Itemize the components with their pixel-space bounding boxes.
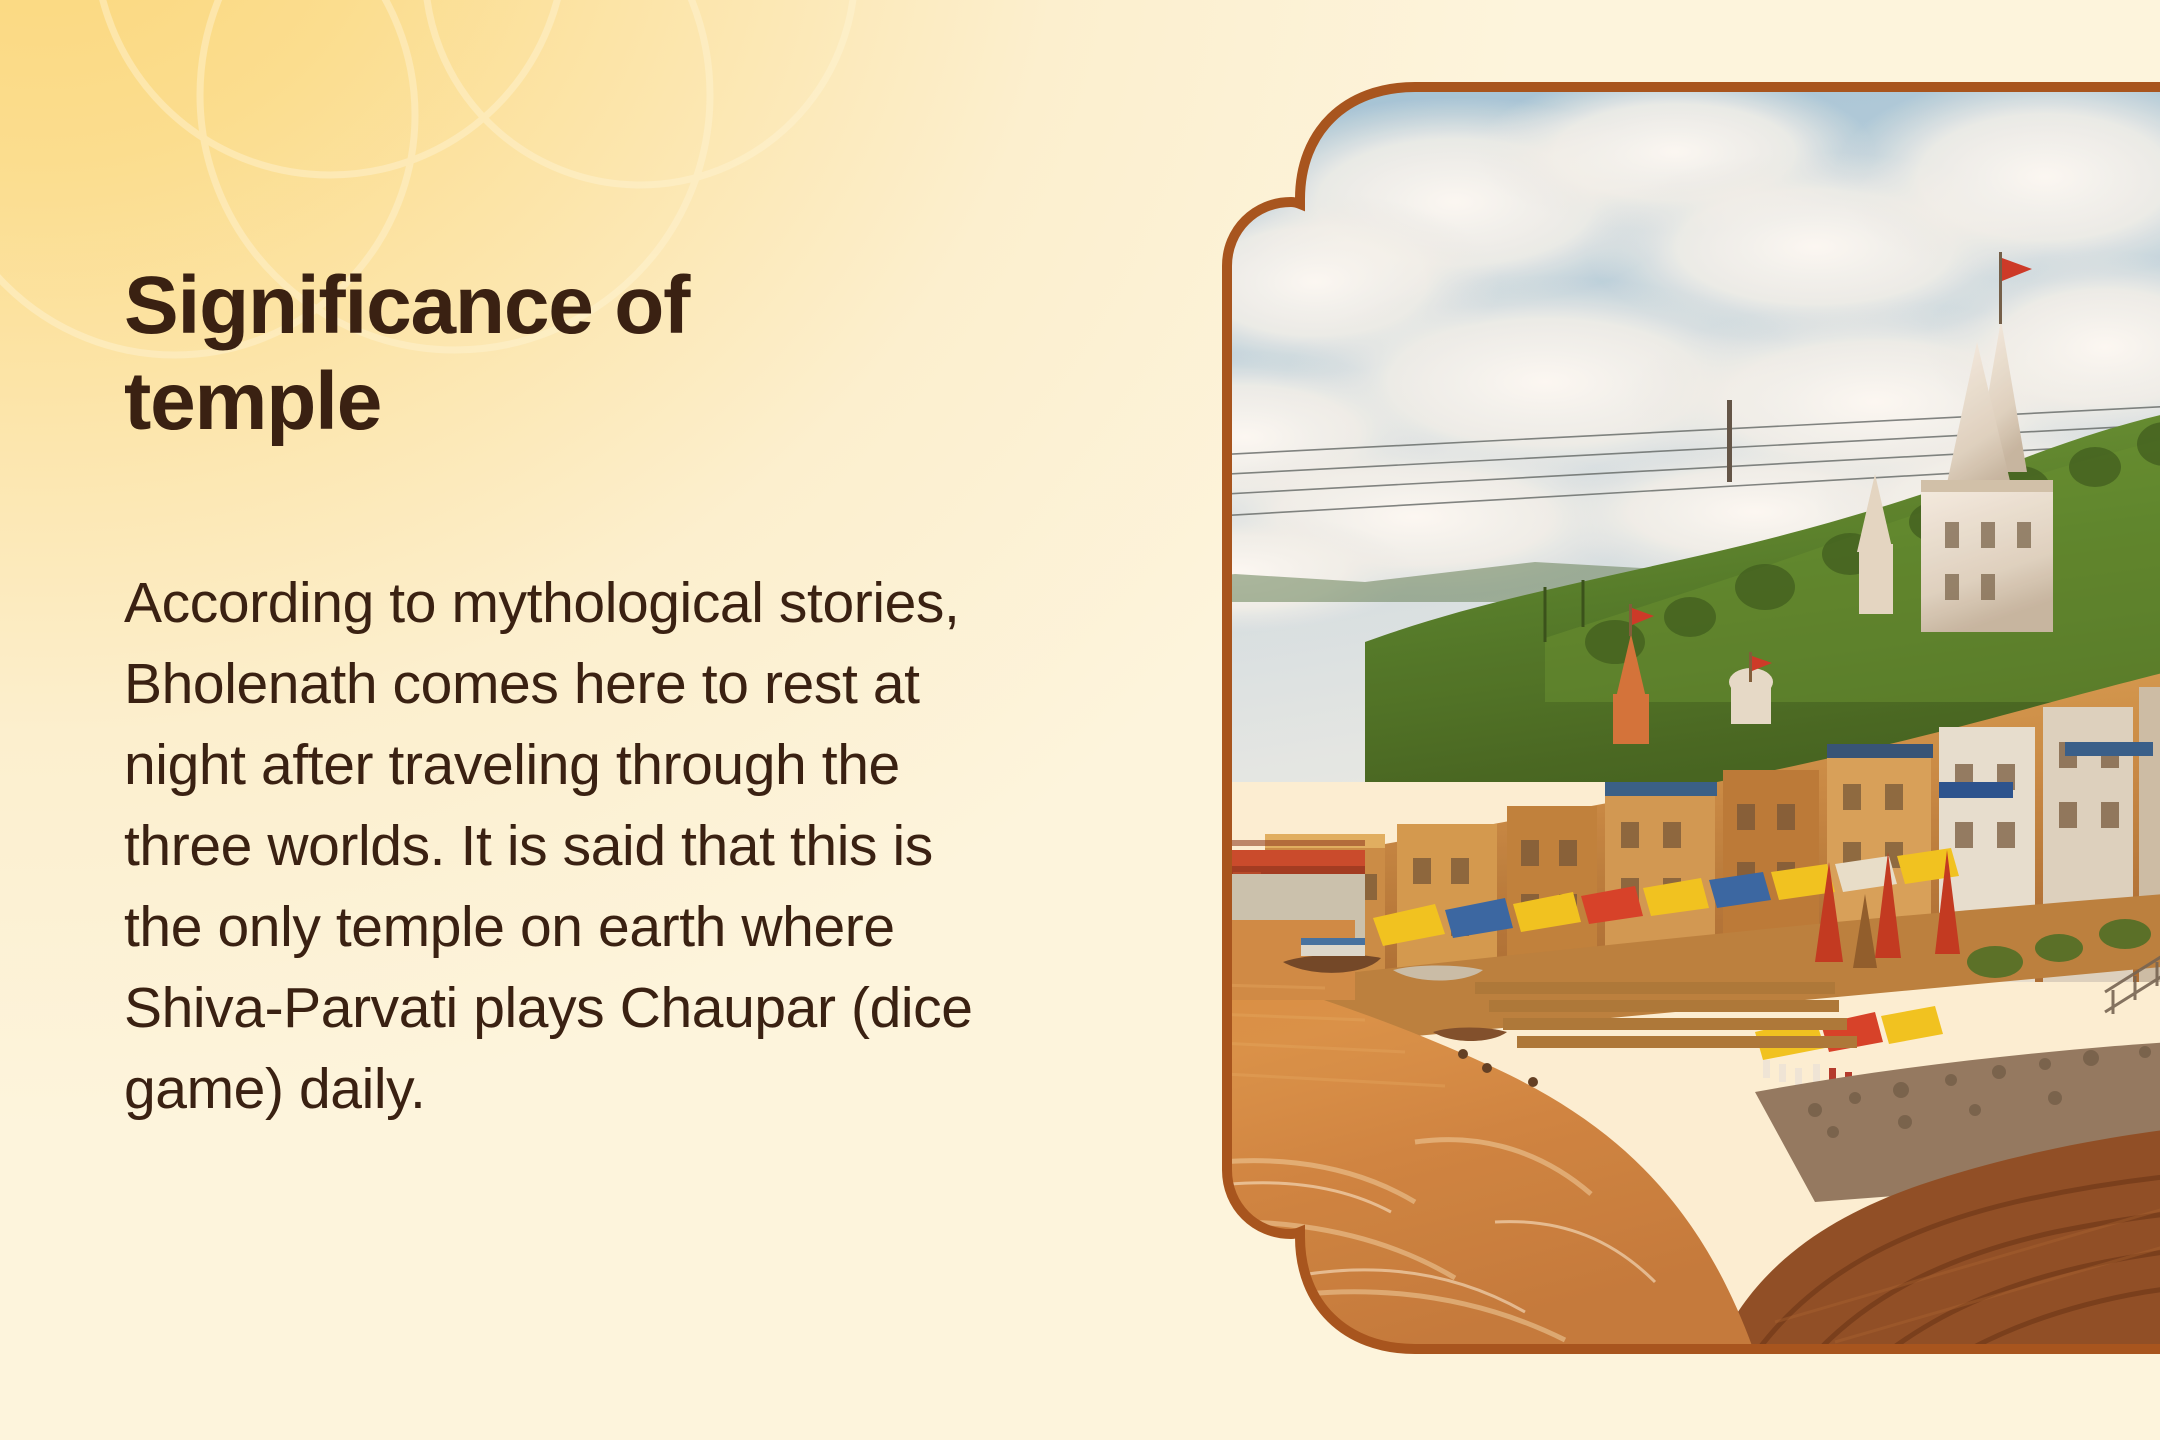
- slide-canvas: Significance of temple According to myth…: [0, 0, 2160, 1440]
- photo-frame: [1115, 82, 2160, 1354]
- page-title: Significance of temple: [124, 258, 904, 450]
- body-paragraph: According to mythological stories, Bhole…: [124, 563, 1004, 1130]
- text-column: Significance of temple According to myth…: [120, 0, 980, 1440]
- photo-svg: [1115, 82, 2160, 1354]
